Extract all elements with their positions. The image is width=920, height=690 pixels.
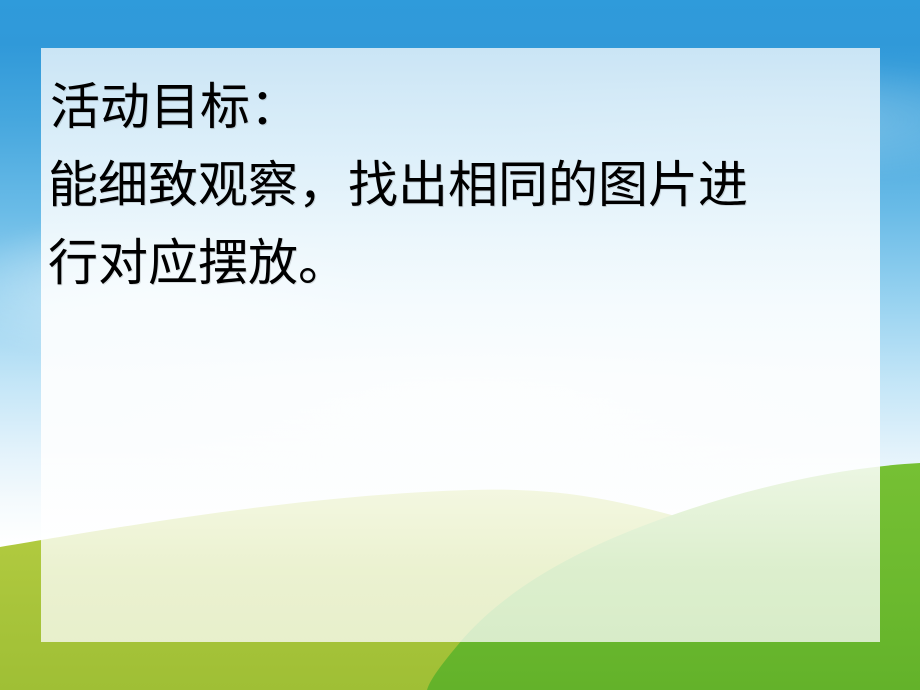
page-title: 活动目标： [50, 68, 878, 146]
slide-canvas: 活动目标： 能细致观察，找出相同的图片进 行对应摆放。 [0, 0, 920, 690]
text-block: 活动目标： 能细致观察，找出相同的图片进 行对应摆放。 [48, 68, 878, 302]
body-line-1: 能细致观察，找出相同的图片进 [48, 146, 878, 224]
content-panel: 活动目标： 能细致观察，找出相同的图片进 行对应摆放。 [41, 48, 880, 642]
body-line-2: 行对应摆放。 [48, 224, 878, 302]
